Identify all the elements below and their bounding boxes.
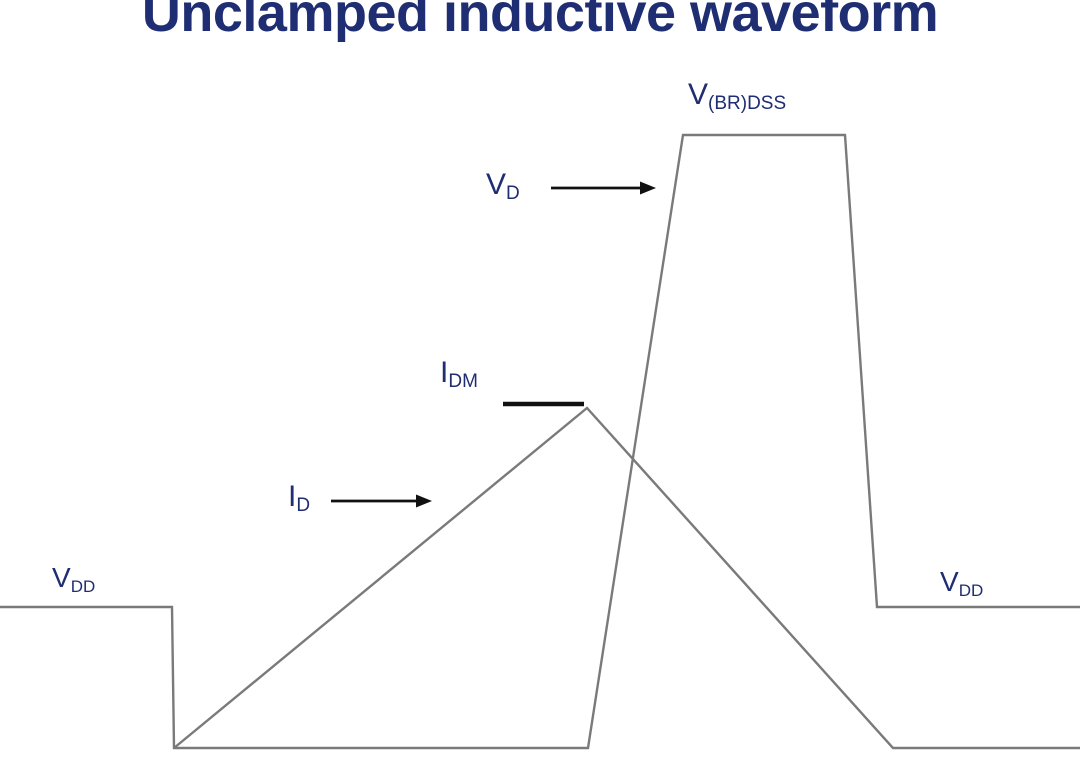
label-v-brdss-base: V (688, 78, 708, 111)
label-v-dd-left-sub: DD (71, 577, 96, 596)
label-v-brdss-sub: (BR)DSS (708, 93, 786, 114)
label-v-d-base: V (486, 168, 506, 201)
voltage-waveform-vd (0, 135, 1080, 748)
label-i-d-sub: D (296, 495, 310, 516)
waveform-figure: Unclamped inductive waveform V(BR)DSS VD… (0, 0, 1080, 758)
label-i-d: ID (288, 482, 310, 515)
label-v-dd-left-base: V (52, 562, 71, 593)
label-i-dm: IDM (440, 358, 478, 391)
label-i-dm-sub: DM (448, 371, 478, 392)
label-v-dd-right: VDD (940, 568, 983, 599)
label-v-brdss: V(BR)DSS (688, 80, 786, 113)
waveform-plot (0, 0, 1080, 758)
vd-arrow (551, 182, 656, 195)
label-v-d: VD (486, 170, 520, 203)
id-arrow (331, 495, 432, 508)
label-v-d-sub: D (506, 183, 520, 204)
label-v-dd-right-sub: DD (959, 581, 984, 600)
label-v-dd-left: VDD (52, 564, 95, 595)
label-v-dd-right-base: V (940, 566, 959, 597)
